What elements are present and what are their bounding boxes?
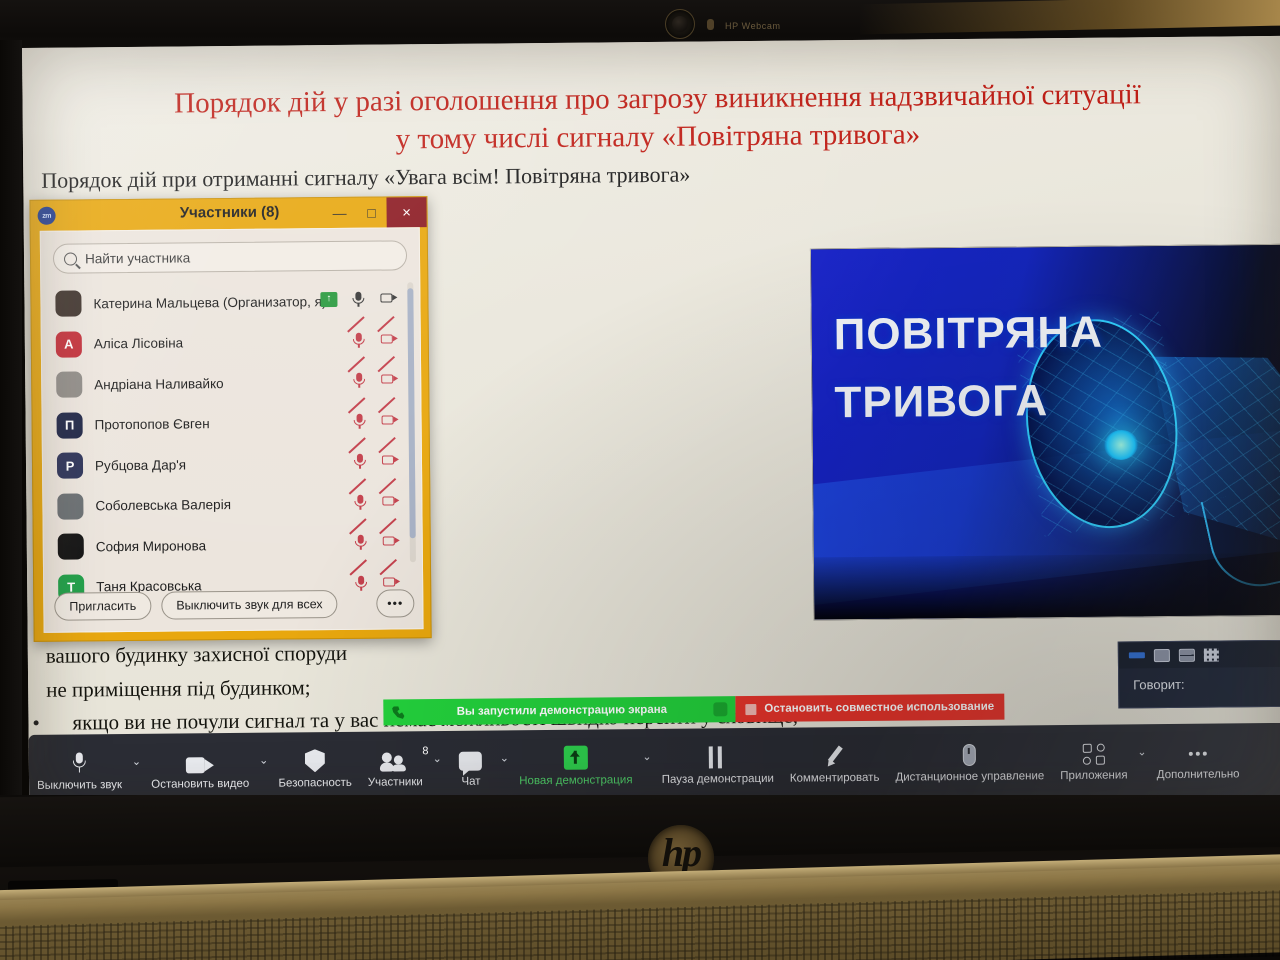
camera-off-icon[interactable] — [381, 493, 399, 509]
microphone-muted-icon[interactable] — [351, 412, 369, 428]
search-icon — [64, 252, 77, 265]
participant-name: Рубцова Дар'я — [95, 457, 186, 473]
camera-off-icon[interactable] — [382, 533, 400, 549]
participant-status-icons — [350, 371, 398, 387]
chevron-down-icon[interactable]: ⌄ — [498, 751, 512, 782]
toolbar-button-more-dots[interactable]: Дополнительно — [1148, 723, 1247, 797]
poster-bottom-shade — [814, 553, 1280, 620]
toolbar-button-label: Новая демонстрация — [519, 774, 632, 787]
participant-name: Протопопов Євген — [95, 416, 210, 432]
participant-name: Андріана Наливайко — [94, 376, 224, 392]
toolbar-button-pause[interactable]: Пауза демонстрации — [653, 728, 782, 802]
minimize-button[interactable]: — — [324, 198, 354, 228]
bezel-highlight — [860, 0, 1280, 34]
camera-off-icon[interactable] — [380, 371, 398, 387]
toolbar-button-label: Приложения — [1060, 769, 1127, 782]
camera-icon — [186, 749, 214, 773]
toolbar-button-label: Комментировать — [790, 772, 880, 785]
active-speaker-panel[interactable]: Говорит: — [1118, 640, 1280, 709]
webcam-lens-icon — [672, 16, 688, 32]
speaker-panel-toolbar[interactable] — [1119, 641, 1280, 669]
microphone-icon — [73, 750, 86, 774]
participants-footer: Пригласить Выключить звук для всех ••• — [44, 586, 424, 624]
toolbar-button-label: Остановить видео — [151, 778, 249, 791]
toolbar-button-pencil[interactable]: Комментировать — [781, 727, 887, 801]
participant-row[interactable]: ААліса Лісовіна — [50, 321, 412, 365]
close-button[interactable]: × — [386, 197, 426, 227]
avatar — [57, 493, 83, 519]
toolbar-button-apps[interactable]: Приложения — [1052, 724, 1136, 798]
sharing-status-text: Вы запустили демонстрацию экрана — [410, 703, 713, 718]
participants-count-badge: 8 — [422, 745, 428, 757]
minimize-icon[interactable] — [1129, 652, 1145, 658]
maximize-button[interactable]: □ — [356, 198, 386, 228]
participant-status-icons — [351, 493, 399, 509]
apps-icon — [1083, 741, 1105, 765]
participant-row[interactable]: ППротопопов Євген — [50, 402, 412, 446]
avatar: А — [56, 331, 82, 357]
participant-status-icons — [352, 533, 400, 549]
chevron-down-icon[interactable]: ⌄ — [430, 752, 444, 783]
shield-icon — [713, 702, 727, 716]
share-screen-icon — [564, 746, 588, 770]
toolbar-button-label: Безопасность — [278, 777, 351, 790]
chevron-down-icon[interactable]: ⌄ — [1135, 745, 1149, 776]
toolbar-button-label: Дистанционное управление — [895, 770, 1044, 783]
toolbar-button-label: Пауза демонстрации — [662, 773, 774, 786]
search-input[interactable]: Найти участника — [53, 240, 407, 273]
slide-title: Порядок дій у разі оголошення про загроз… — [82, 74, 1233, 162]
avatar: Р — [57, 453, 83, 479]
participant-name: Катерина Мальцева (Организатор, я) — [93, 294, 326, 311]
camera-off-icon[interactable] — [381, 452, 399, 468]
webcam-led-icon — [707, 19, 714, 30]
avatar — [55, 291, 81, 317]
chevron-down-icon[interactable]: ⌄ — [640, 750, 654, 781]
phone-icon — [391, 706, 404, 719]
camera-off-icon[interactable] — [380, 331, 398, 347]
participants-window-titlebar[interactable]: zm Участники (8) — □ × — [30, 197, 426, 231]
participant-row[interactable]: София Миронова — [52, 523, 414, 567]
toolbar-button-mouse[interactable]: Дистанционное управление — [887, 725, 1053, 800]
split-view-icon[interactable] — [1179, 648, 1195, 661]
participants-scrollbar[interactable] — [407, 282, 416, 562]
toolbar-button-label: Выключить звук — [37, 779, 122, 792]
pause-icon — [708, 744, 726, 768]
toolbar-button-chat[interactable]: Чат — [444, 730, 499, 804]
participants-window-body: Найти участника Катерина Мальцева (Орган… — [40, 227, 424, 633]
stop-share-button[interactable]: Остановить совместное использование — [735, 694, 1004, 723]
participants-window[interactable]: zm Участники (8) — □ × Найти участника К… — [29, 196, 431, 642]
participant-status-icons — [350, 331, 398, 347]
participant-status-icons — [351, 452, 399, 468]
participant-row[interactable]: РРубцова Дар'я — [51, 442, 413, 486]
invite-button[interactable]: Пригласить — [54, 592, 151, 621]
webcam-label: HP Webcam — [725, 21, 781, 31]
gallery-view-icon[interactable] — [1204, 648, 1219, 661]
toolbar-button-people[interactable]: 8Участники — [359, 731, 431, 805]
chevron-down-icon[interactable]: ⌄ — [130, 755, 144, 786]
participant-name: София Миронова — [96, 538, 206, 554]
poster-line-2: ТРИВОГА — [834, 367, 1135, 438]
search-placeholder: Найти участника — [85, 250, 190, 266]
more-options-button[interactable]: ••• — [376, 589, 414, 617]
participant-status-icons — [351, 412, 399, 428]
participant-name: Соболевська Валерія — [95, 497, 231, 513]
mouse-icon — [963, 742, 976, 766]
sharing-badge-icon: ↑ — [320, 291, 337, 306]
air-raid-poster-image: ПОВІТРЯНА ТРИВОГА — [810, 244, 1280, 621]
toolbar-button-label: Участники — [368, 776, 423, 789]
microphone-muted-icon[interactable] — [350, 372, 368, 388]
people-icon — [380, 747, 410, 771]
scrollbar-thumb[interactable] — [407, 288, 415, 538]
laptop-photo: HP Webcam Pavilion Порядок дій у разі ог… — [0, 0, 1280, 960]
toolbar-button-share-screen[interactable]: Новая демонстрация — [511, 729, 641, 803]
avatar — [58, 534, 84, 560]
laptop-screen: Порядок дій у разі оголошення про загроз… — [22, 36, 1280, 820]
toolbar-button-label: Чат — [461, 776, 480, 788]
chevron-down-icon[interactable]: ⌄ — [257, 754, 271, 785]
microphone-muted-icon[interactable] — [350, 331, 368, 347]
hp-logo-text: hp — [648, 829, 714, 876]
microphone-icon[interactable] — [349, 291, 367, 307]
speaker-view-icon[interactable] — [1154, 649, 1170, 662]
participant-row[interactable]: Соболевська Валерія — [51, 483, 413, 527]
participant-status-icons: ↑ — [320, 290, 397, 307]
microphone-muted-icon[interactable] — [352, 534, 370, 550]
camera-icon[interactable] — [379, 290, 397, 306]
stop-icon — [745, 703, 756, 714]
toolbar-button-label: Дополнительно — [1157, 768, 1240, 781]
laptop-left-bezel — [0, 40, 22, 870]
bezel-shade — [0, 795, 1280, 868]
mute-all-button[interactable]: Выключить звук для всех — [161, 590, 338, 620]
participants-list[interactable]: Катерина Мальцева (Организатор, я)↑ААліс… — [49, 280, 414, 573]
participant-row[interactable]: Катерина Мальцева (Организатор, я)↑ — [49, 280, 411, 324]
avatar — [56, 372, 82, 398]
poster-line-1: ПОВІТРЯНА — [833, 298, 1134, 369]
shield-icon — [305, 748, 325, 772]
camera-off-icon[interactable] — [381, 412, 399, 428]
stop-share-label: Остановить совместное использование — [764, 701, 994, 715]
speaker-label: Говорит: — [1119, 667, 1280, 693]
participant-name: Аліса Лісовіна — [94, 336, 183, 352]
microphone-muted-icon[interactable] — [351, 453, 369, 469]
sharing-indicator[interactable]: Вы запустили демонстрацию экрана — [383, 696, 735, 725]
microphone-muted-icon[interactable] — [351, 493, 369, 509]
pencil-icon — [823, 743, 845, 767]
slide-subtitle: Порядок дій при отриманні сигналу «Увага… — [41, 158, 1041, 194]
avatar: П — [56, 412, 82, 438]
participant-row[interactable]: Андріана Наливайко — [50, 361, 412, 405]
chat-icon — [459, 747, 482, 771]
poster-text: ПОВІТРЯНА ТРИВОГА — [833, 298, 1134, 437]
more-dots-icon — [1187, 740, 1209, 764]
